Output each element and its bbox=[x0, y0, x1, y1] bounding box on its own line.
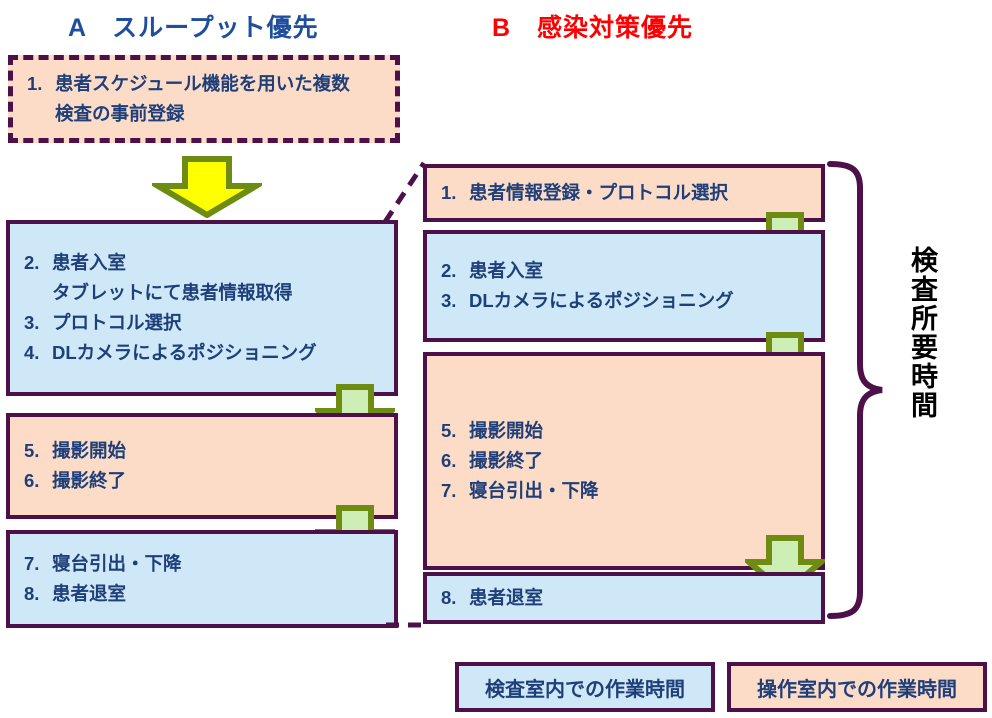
box-line: 1. 患者スケジュール機能を用いた複数 bbox=[27, 69, 395, 99]
step-text: DLカメラによるポジショニング bbox=[469, 286, 734, 316]
box-line: 検査の事前登録 bbox=[27, 99, 395, 129]
exam-duration-label: 検査所要時間 bbox=[908, 246, 935, 420]
step-number: 6. bbox=[441, 446, 469, 476]
step-text: 患者退室 bbox=[469, 583, 543, 613]
down-arrow-yellow-icon bbox=[152, 156, 262, 223]
step-text: プロトコル選択 bbox=[52, 308, 182, 338]
step-number: 1. bbox=[441, 178, 469, 208]
step-text: 患者入室 bbox=[52, 248, 126, 278]
box-line: 6. 撮影終了 bbox=[24, 466, 394, 496]
step-text: 患者入室 bbox=[469, 256, 543, 286]
step-text: 患者退室 bbox=[52, 579, 126, 609]
step-number: 5. bbox=[441, 416, 469, 446]
step-number: 3. bbox=[24, 308, 52, 338]
step-text: 患者情報登録・プロトコル選択 bbox=[469, 178, 728, 208]
box-a-scan[interactable]: 5. 撮影開始 6. 撮影終了 bbox=[6, 413, 398, 519]
box-line: 5. 撮影開始 bbox=[24, 436, 394, 466]
step-number: 8. bbox=[24, 579, 52, 609]
legend-exam-room[interactable]: 検査室内での作業時間 bbox=[455, 662, 715, 712]
box-line: 8. 患者退室 bbox=[24, 579, 394, 609]
step-text: 撮影終了 bbox=[52, 466, 126, 496]
box-line: 3. DLカメラによるポジショニング bbox=[441, 286, 821, 316]
column-b-title: B 感染対策優先 bbox=[492, 8, 693, 44]
box-b-patient-entry[interactable]: 2. 患者入室 3. DLカメラによるポジショニング bbox=[423, 230, 825, 342]
box-line: 6. 撮影終了 bbox=[441, 446, 821, 476]
step-text: 検査の事前登録 bbox=[55, 99, 185, 129]
step-number: 7. bbox=[441, 476, 469, 506]
step-number: 3. bbox=[441, 286, 469, 316]
box-line: 5. 撮影開始 bbox=[441, 416, 821, 446]
step-text: 患者スケジュール機能を用いた複数 bbox=[55, 69, 350, 99]
box-line: 4. DLカメラによるポジショニング bbox=[24, 338, 394, 368]
box-a-patient-entry[interactable]: 2. 患者入室 タブレットにて患者情報取得 3. プロトコル選択 4. DLカメ… bbox=[6, 220, 398, 396]
step-number: 4. bbox=[24, 338, 52, 368]
step-number: 5. bbox=[24, 436, 52, 466]
box-line: 7. 寝台引出・下降 bbox=[24, 549, 394, 579]
box-b-patient-exit[interactable]: 8. 患者退室 bbox=[423, 572, 825, 624]
box-line: 3. プロトコル選択 bbox=[24, 308, 394, 338]
box-a-pre-registration[interactable]: 1. 患者スケジュール機能を用いた複数 検査の事前登録 bbox=[8, 55, 400, 143]
step-number: 8. bbox=[441, 583, 469, 613]
box-line: 2. 患者入室 bbox=[441, 256, 821, 286]
legend-control-room[interactable]: 操作室内での作業時間 bbox=[727, 662, 987, 712]
step-text: 寝台引出・下降 bbox=[469, 476, 599, 506]
legend-label: 検査室内での作業時間 bbox=[485, 673, 685, 702]
step-text: 寝台引出・下降 bbox=[52, 549, 182, 579]
column-a-title: A スループット優先 bbox=[68, 8, 319, 44]
box-line: タブレットにて患者情報取得 bbox=[24, 278, 394, 308]
box-line: 7. 寝台引出・下降 bbox=[441, 476, 821, 506]
step-text: タブレットにて患者情報取得 bbox=[52, 278, 293, 308]
box-a-patient-exit[interactable]: 7. 寝台引出・下降 8. 患者退室 bbox=[6, 530, 398, 628]
step-number: 1. bbox=[27, 69, 55, 99]
step-number: 2. bbox=[24, 248, 52, 278]
step-number: 2. bbox=[441, 256, 469, 286]
box-line: 8. 患者退室 bbox=[441, 583, 821, 613]
step-text: DLカメラによるポジショニング bbox=[52, 338, 317, 368]
step-text: 撮影終了 bbox=[469, 446, 543, 476]
box-line: 1. 患者情報登録・プロトコル選択 bbox=[441, 178, 821, 208]
step-text: 撮影開始 bbox=[52, 436, 126, 466]
step-text: 撮影開始 bbox=[469, 416, 543, 446]
box-line: 2. 患者入室 bbox=[24, 248, 394, 278]
legend-label: 操作室内での作業時間 bbox=[757, 673, 957, 702]
diagram-canvas: A スループット優先 B 感染対策優先 1. 患者スケジュール機能を用いた複数 … bbox=[0, 0, 992, 718]
step-number: 6. bbox=[24, 466, 52, 496]
exam-duration-bracket bbox=[826, 160, 886, 625]
step-number: 7. bbox=[24, 549, 52, 579]
